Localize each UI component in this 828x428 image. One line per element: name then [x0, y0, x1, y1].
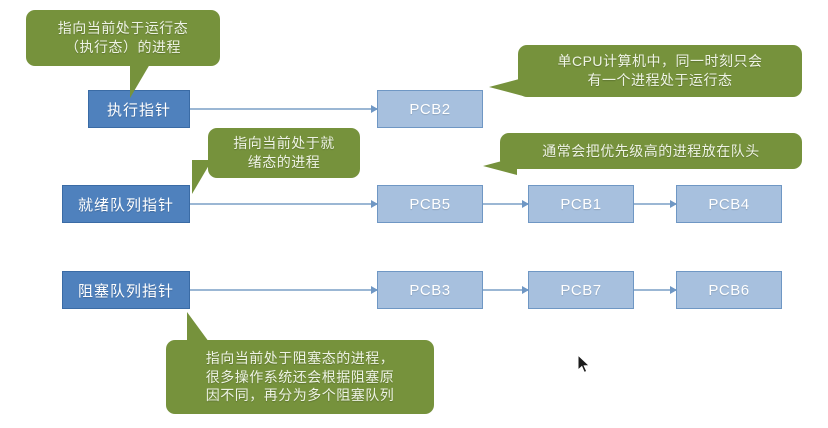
blocked-pointer[interactable]: 阻塞队列指针	[62, 271, 190, 309]
diagram-canvas: 执行指针就绪队列指针阻塞队列指针 PCB2PCB5PCB1PCB4PCB3PCB…	[0, 0, 828, 428]
pcb-block-pcb3[interactable]: PCB3	[377, 271, 483, 309]
pcb-block-pcb7[interactable]: PCB7	[528, 271, 634, 309]
pcb-block-label: PCB5	[409, 196, 450, 213]
pcb-block-label: PCB1	[560, 196, 601, 213]
pcb-block-label: PCB2	[409, 101, 450, 118]
callout-blocked-text: 指向当前处于阻塞态的进程， 很多操作系统还会根据阻塞原 因不同，再分为多个阻塞队…	[206, 349, 395, 406]
callout-blocked-tail	[187, 312, 209, 342]
arrow-pcb3-pcb7	[483, 289, 528, 291]
callout-running-text: 指向当前处于运行态 （执行态）的进程	[58, 19, 189, 57]
ready-pointer-label: 就绪队列指针	[78, 194, 174, 215]
callout-priority-text: 通常会把优先级高的进程放在队头	[542, 142, 760, 161]
ready-pointer[interactable]: 就绪队列指针	[62, 185, 190, 223]
pcb-block-label: PCB4	[708, 196, 749, 213]
callout-running: 指向当前处于运行态 （执行态）的进程	[26, 10, 220, 66]
arrow-ready-pcb5	[190, 203, 377, 205]
arrow-pcb5-pcb1	[483, 203, 528, 205]
arrow-pcb7-pcb6	[634, 289, 676, 291]
pcb-block-pcb1[interactable]: PCB1	[528, 185, 634, 223]
pcb-block-pcb2[interactable]: PCB2	[377, 90, 483, 128]
arrow-pcb1-pcb4	[634, 203, 676, 205]
running-pointer-label: 执行指针	[107, 99, 171, 120]
pcb-block-pcb6[interactable]: PCB6	[676, 271, 782, 309]
pcb-block-label: PCB3	[409, 282, 450, 299]
pcb-block-label: PCB6	[708, 282, 749, 299]
arrow-running-pcb2	[190, 108, 377, 110]
callout-ready: 指向当前处于就 绪态的进程	[208, 128, 360, 178]
callout-single-cpu: 单CPU计算机中，同一时刻只会 有一个进程处于运行态	[518, 45, 802, 97]
blocked-pointer-label: 阻塞队列指针	[78, 280, 174, 301]
callout-running-tail	[130, 64, 150, 98]
pcb-block-pcb4[interactable]: PCB4	[676, 185, 782, 223]
callout-ready-text: 指向当前处于就 绪态的进程	[233, 134, 335, 172]
callout-single-cpu-text: 单CPU计算机中，同一时刻只会 有一个进程处于运行态	[557, 52, 762, 90]
pcb-block-pcb5[interactable]: PCB5	[377, 185, 483, 223]
mouse-pointer-icon	[578, 355, 592, 375]
pcb-block-label: PCB7	[560, 282, 601, 299]
arrow-blocked-pcb3	[190, 289, 377, 291]
callout-priority: 通常会把优先级高的进程放在队头	[500, 133, 802, 169]
callout-blocked: 指向当前处于阻塞态的进程， 很多操作系统还会根据阻塞原 因不同，再分为多个阻塞队…	[166, 340, 434, 414]
